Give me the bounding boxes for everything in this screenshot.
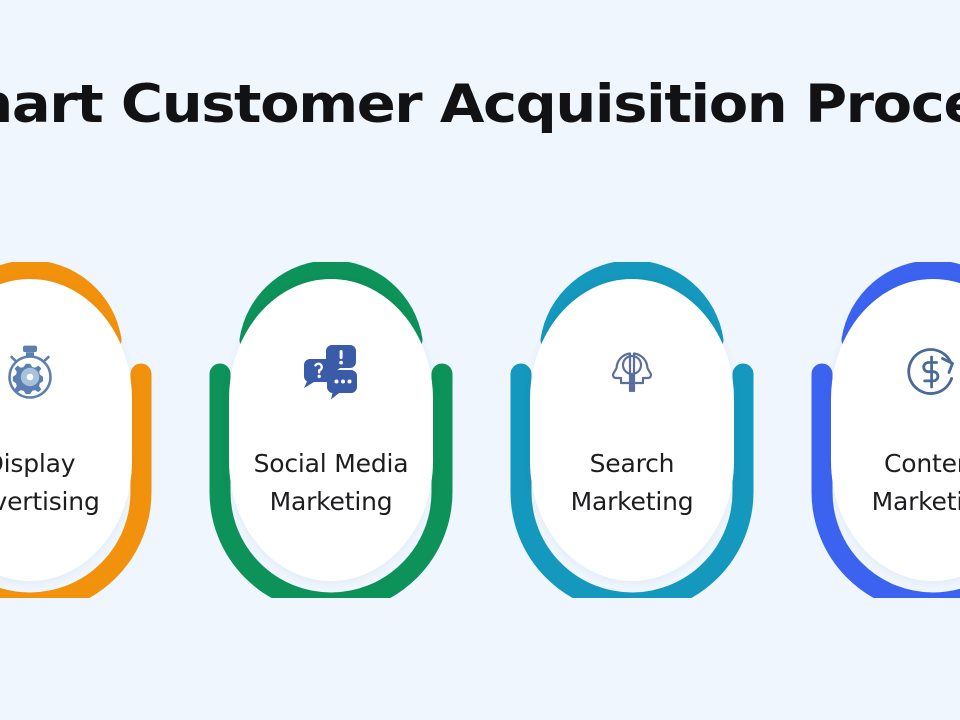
card-label: Search Marketing	[532, 445, 732, 521]
card-body: Search Marketing	[530, 279, 734, 581]
card-label-line2: Marketing	[532, 483, 732, 521]
title-area: Smart Customer Acquisition Process	[0, 0, 960, 190]
two-heads-icon	[600, 343, 664, 401]
process-card-search-marketing[interactable]: Search Marketing	[509, 262, 755, 598]
card-label-line2: Marketing	[231, 483, 431, 521]
process-card-display-advertising[interactable]: Display Advertising	[0, 262, 153, 598]
process-card-social-media-marketing[interactable]: Social Media Marketing	[208, 262, 454, 598]
card-label-line1: Display	[0, 449, 75, 478]
stopwatch-gear-icon	[0, 343, 62, 401]
card-label-line1: Social Media	[254, 449, 409, 478]
dollar-refresh-icon	[901, 343, 960, 401]
card-body: Social Media Marketing	[229, 279, 433, 581]
card-label-line1: Content	[884, 449, 960, 478]
card-label-line2: Advertising	[0, 483, 130, 521]
card-label: Content Marketing	[833, 445, 960, 521]
process-card-row: Display Advertising	[0, 262, 960, 602]
card-label: Display Advertising	[0, 445, 130, 521]
card-label-line1: Search	[590, 449, 675, 478]
speech-bubbles-icon	[299, 343, 363, 401]
card-label: Social Media Marketing	[231, 445, 431, 521]
infographic-canvas: Smart Customer Acquisition Process	[0, 0, 960, 720]
process-card-content-marketing[interactable]: Content Marketing	[810, 262, 960, 598]
card-label-line2: Marketing	[833, 483, 960, 521]
page-title: Smart Customer Acquisition Process	[0, 72, 960, 138]
